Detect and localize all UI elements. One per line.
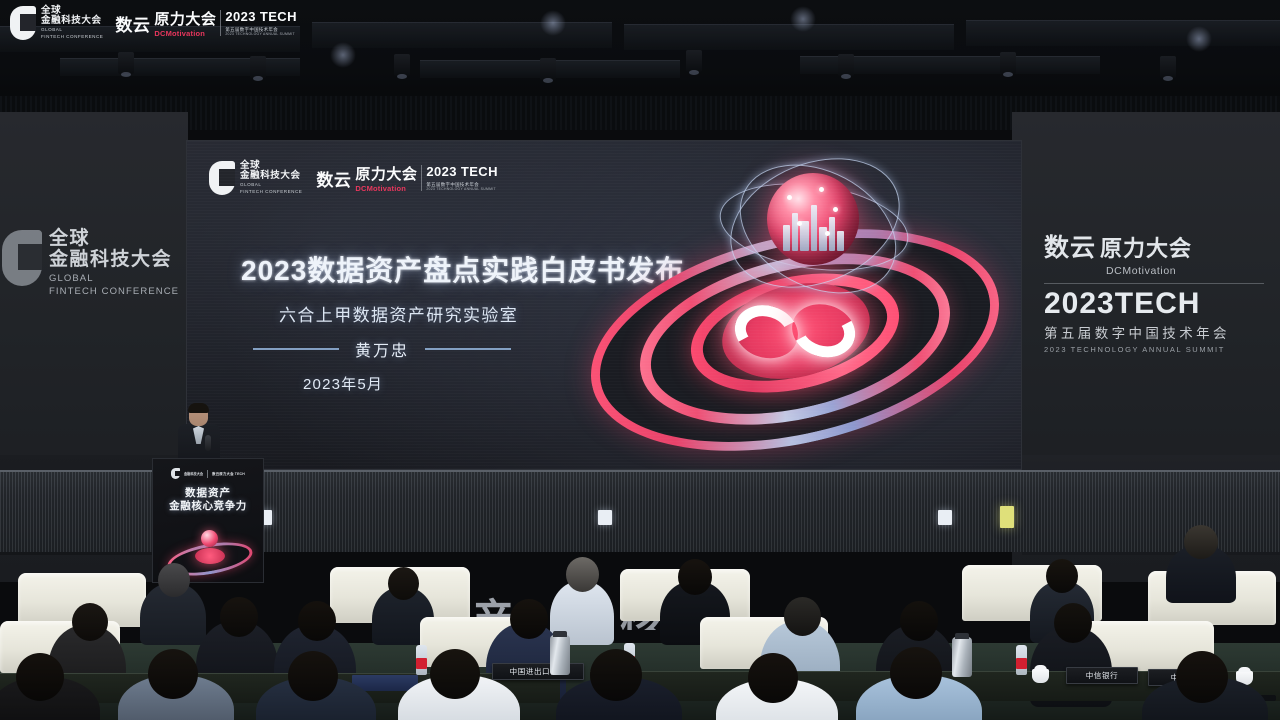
audience-head — [784, 597, 821, 636]
wall-right-en-sub: 2023 TECHNOLOGY ANNUAL SUMMIT — [1044, 345, 1264, 354]
logo-divider — [207, 470, 208, 478]
overlay-shuyun-logo: 数云 原力大会 DCMotivation 2023 TECH 第五届数字中国技术… — [115, 8, 297, 38]
audience-head — [148, 649, 198, 699]
stage-light — [1000, 52, 1016, 74]
stage-light — [118, 52, 134, 74]
overlay-gfc-logo: 全球 金融科技大会 GLOBAL FINTECH CONFERENCE — [10, 6, 103, 40]
audience-head — [1176, 651, 1228, 703]
slide-gfc-en: GLOBAL — [240, 183, 302, 188]
slide-yuanli: 原力大会 — [355, 163, 417, 184]
slide-date: 2023年5月 — [303, 373, 383, 394]
slide-gfc-logo: 全球 金融科技大会 GLOBAL FINTECH CONFERENCE — [209, 161, 302, 195]
wall-right-shuyun: 数云 — [1044, 228, 1096, 264]
light-glow — [330, 42, 356, 68]
table-nameplate: 中国进出口银行 — [492, 663, 584, 680]
podium-line-1: 数据资产 — [153, 487, 263, 500]
microphone-icon — [205, 435, 211, 451]
ceiling-truss — [624, 24, 954, 50]
wall-left-cn2: 金融科技大会 — [49, 249, 179, 270]
light-glow — [790, 6, 816, 32]
audience-head — [890, 647, 942, 699]
ceiling-truss — [312, 22, 612, 48]
wall-right-yuanli: 原力大会 — [1100, 231, 1192, 263]
light-glow — [540, 10, 566, 36]
wall-right-year: 2023 — [1044, 287, 1115, 320]
water-bottle — [1016, 645, 1027, 675]
skirt-light-panel — [598, 510, 612, 525]
overlay-dcm: DCMotivation — [154, 29, 216, 38]
audience-head — [748, 653, 798, 703]
stage-light — [250, 56, 266, 78]
galaxy-swirl-graphic — [585, 151, 1015, 469]
gfc-mark-icon — [2, 230, 42, 286]
audience-head — [298, 601, 336, 641]
wall-right-cn-sub: 第五届数字中国技术年会 — [1044, 322, 1264, 342]
ceiling-truss — [966, 20, 1280, 46]
table-nameplate: 中信银行 — [1066, 667, 1138, 684]
audience-head — [510, 599, 548, 639]
slide-speaker-name: 黄万忠 — [355, 337, 409, 361]
audience-head — [566, 557, 599, 592]
audience-head — [158, 563, 190, 597]
thermos-flask — [952, 637, 972, 677]
audience-head — [16, 653, 64, 701]
audience-head — [900, 601, 938, 641]
overlay-tech-en: 2023 TECHNOLOGY ANNUAL SUMMIT — [225, 33, 297, 37]
podium-logos: 金融科技大会 数云原力大会 TECH — [171, 468, 245, 479]
slide-dcm: DCMotivation — [355, 184, 417, 193]
podium-shuyun-text: 数云原力大会 TECH — [212, 471, 245, 476]
overlay-gfc-en: GLOBAL — [41, 28, 103, 33]
audience-head — [430, 649, 480, 699]
logo-divider — [421, 165, 422, 191]
overlay-shuyun-cn: 数云 — [115, 11, 150, 36]
slide-header-logos: 全球 金融科技大会 GLOBAL FINTECH CONFERENCE 数云 原… — [209, 161, 498, 195]
slide-shuyun-logo: 数云 原力大会 DCMotivation 2023 TECH 第五届数字中国技术… — [316, 163, 498, 193]
wall-left-en2: FINTECH CONFERENCE — [49, 287, 179, 298]
rule-left — [253, 348, 339, 350]
podium-line-2: 金融核心竞争力 — [153, 500, 263, 513]
broadcast-overlay: 全球 金融科技大会 GLOBAL FINTECH CONFERENCE 数云 原… — [10, 6, 297, 40]
water-bottle — [416, 645, 427, 675]
slide-speaker-row: 黄万忠 — [253, 337, 511, 361]
stage-light — [686, 50, 702, 72]
skirt-light-panel — [938, 510, 952, 525]
slide-tech-year: 2023 TECH — [426, 164, 498, 179]
overlay-yuanli: 原力大会 — [154, 8, 216, 29]
overlay-gfc-en2: FINTECH CONFERENCE — [41, 35, 103, 40]
wall-sign-right: 数云 原力大会 DCMotivation 2023TECH 第五届数字中国技术年… — [1044, 228, 1264, 354]
wall-sign-left: 全球 金融科技大会 GLOBAL FINTECH CONFERENCE — [2, 228, 182, 298]
wall-right-tech: TECH — [1115, 287, 1201, 320]
sign-divider — [1044, 283, 1264, 284]
gfc-mark-icon — [209, 161, 235, 195]
slide-gfc-en2: FINTECH CONFERENCE — [240, 190, 302, 195]
led-presentation-screen: 全球 金融科技大会 GLOBAL FINTECH CONFERENCE 数云 原… — [186, 140, 1022, 470]
audience-head — [220, 597, 258, 637]
wall-left-en1: GLOBAL — [49, 274, 179, 285]
gfc-mark-icon — [10, 6, 36, 40]
slide-shuyun-cn: 数云 — [316, 166, 351, 191]
tea-cup — [1032, 669, 1049, 683]
audience-head — [1046, 559, 1078, 593]
audience-head — [288, 651, 338, 701]
audience-head — [678, 559, 712, 595]
wall-right-dcm: DCMotivation — [1106, 265, 1264, 277]
conference-scene: 全球 金融科技大会 GLOBAL FINTECH CONFERENCE 数云 原… — [0, 0, 1280, 720]
gfc-mark-icon — [171, 468, 180, 479]
stage-light — [838, 54, 854, 76]
audience-area: 中国进出口银行 中信银行 中信银行 — [0, 525, 1280, 720]
audience-head — [1054, 603, 1092, 643]
stage-light — [394, 54, 410, 76]
overlay-tech-year: 2023 TECH — [225, 9, 297, 24]
rule-right — [425, 348, 511, 350]
audience-head — [590, 649, 642, 701]
wall-left-cn1: 全球 — [49, 228, 179, 249]
light-glow — [1186, 26, 1212, 52]
slide-gfc-cn2: 金融科技大会 — [240, 171, 302, 181]
thermos-flask — [550, 635, 570, 675]
stage-light — [1160, 56, 1176, 78]
slide-tech-en: 2023 TECHNOLOGY ANNUAL SUMMIT — [426, 188, 498, 192]
podium-gfc-text: 金融科技大会 — [184, 472, 203, 476]
audience-head — [388, 567, 419, 600]
slide-organization: 六合上甲数据资产研究实验室 — [279, 301, 518, 326]
logo-divider — [220, 10, 221, 36]
stage-light — [540, 58, 556, 80]
speaker-presenter — [176, 404, 222, 466]
overlay-gfc-cn2: 金融科技大会 — [41, 16, 103, 26]
audience-head — [72, 603, 108, 641]
audience-head — [1184, 525, 1218, 559]
